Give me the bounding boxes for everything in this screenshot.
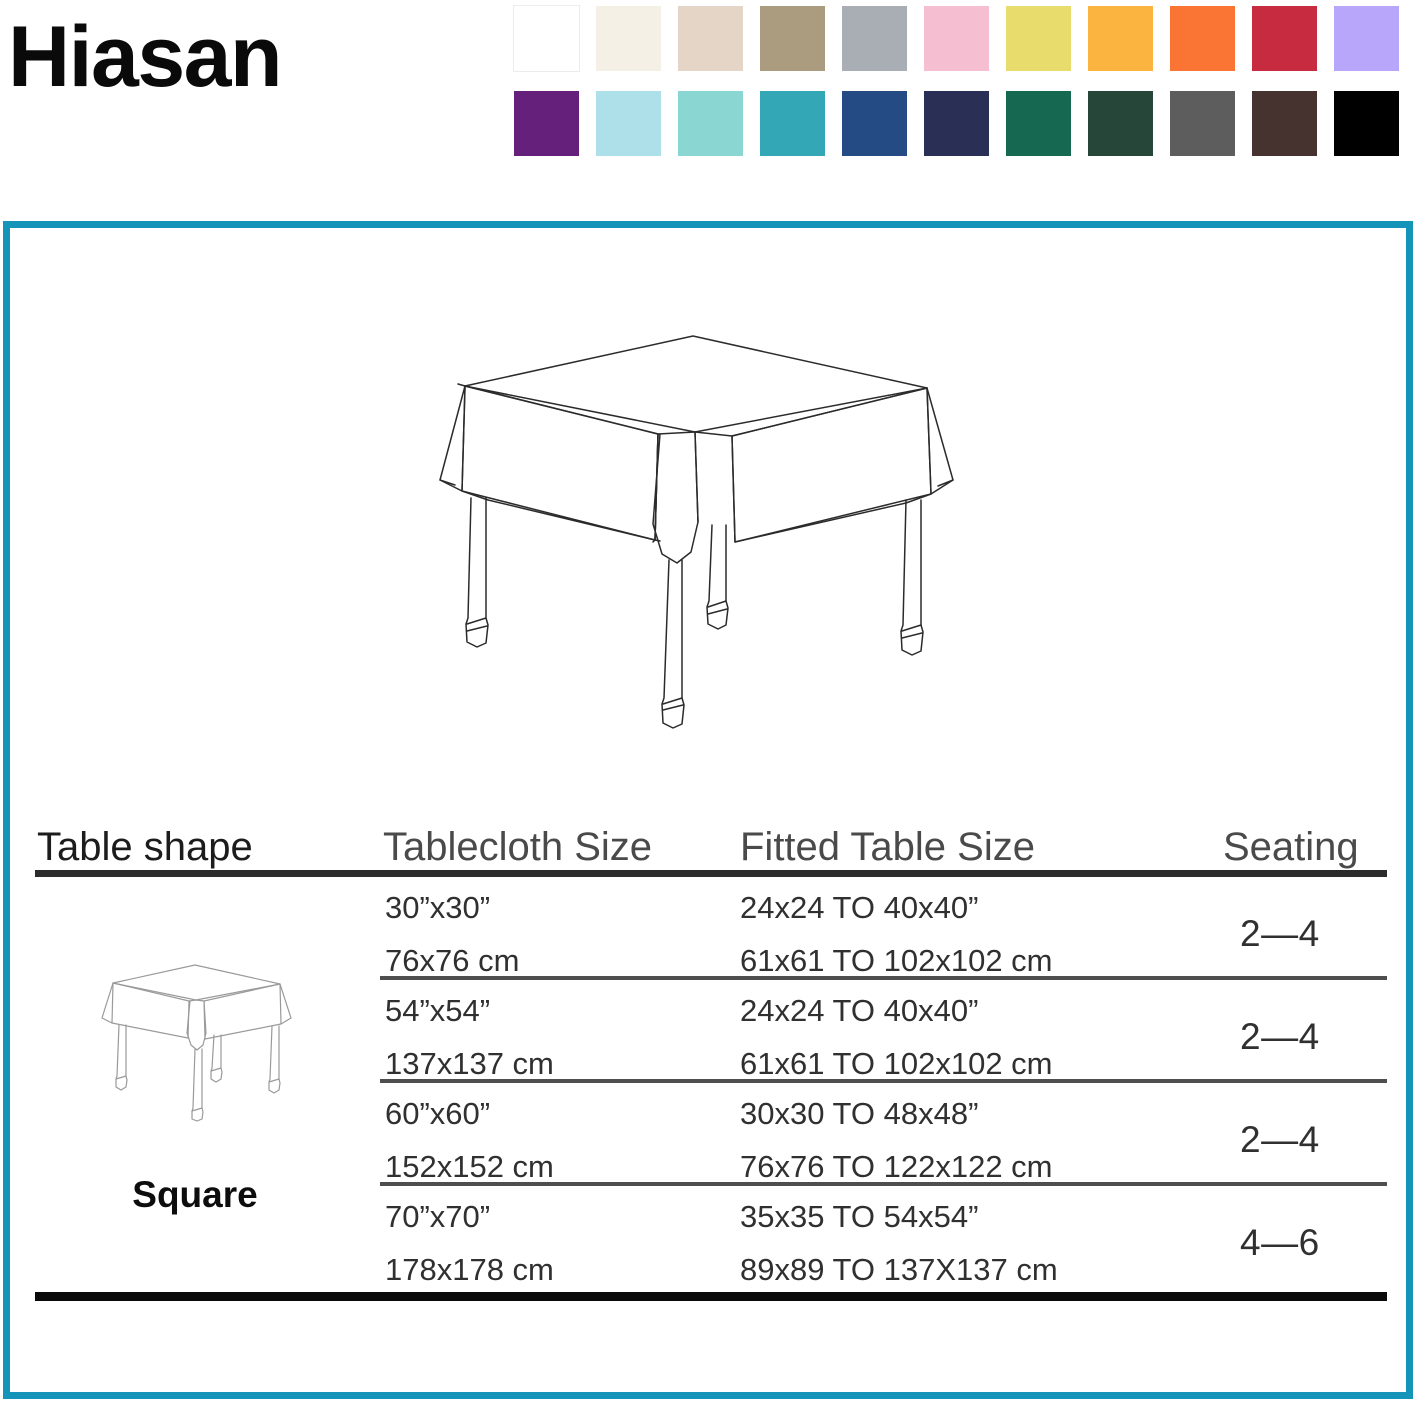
swatch-teal[interactable] (760, 91, 825, 156)
swatch-cream[interactable] (596, 6, 661, 71)
swatch-light-blue[interactable] (596, 91, 661, 156)
color-swatch-grid (514, 6, 1410, 176)
brand-swatch-bar: Hiasan (0, 0, 1416, 205)
table-row: 70”x70” 178x178 cm 35x35 TO 54x54” 89x89… (35, 1186, 1387, 1289)
table-bottom-divider (35, 1292, 1387, 1301)
swatch-row-1 (514, 6, 1410, 71)
cell-fitted-cm: 76x76 TO 122x122 cm (740, 1151, 1053, 1182)
cell-fitted-inches: 35x35 TO 54x54” (740, 1201, 978, 1232)
cell-tablecloth-inches: 60”x60” (385, 1098, 490, 1129)
cell-seating: 2—4 (1240, 1121, 1320, 1158)
swatch-charcoal-grey[interactable] (1170, 91, 1235, 156)
cell-fitted-inches: 24x24 TO 40x40” (740, 892, 978, 923)
cell-tablecloth-inches: 30”x30” (385, 892, 490, 923)
swatch-navy[interactable] (924, 91, 989, 156)
cell-tablecloth-cm: 76x76 cm (385, 945, 519, 976)
cell-fitted-cm: 89x89 TO 137X137 cm (740, 1254, 1058, 1285)
column-header-tablecloth: Tablecloth Size (383, 825, 652, 870)
size-chart-table: Table shape Tablecloth Size Fitted Table… (35, 808, 1387, 1301)
swatch-taupe[interactable] (760, 6, 825, 71)
swatch-dark-green[interactable] (1006, 91, 1071, 156)
swatch-pink[interactable] (924, 6, 989, 71)
swatch-beige[interactable] (678, 6, 743, 71)
cell-tablecloth-inches: 54”x54” (385, 995, 490, 1026)
swatch-yellow[interactable] (1006, 6, 1071, 71)
column-header-table-shape: Table shape (37, 825, 253, 870)
swatch-dark-brown[interactable] (1252, 91, 1317, 156)
swatch-red[interactable] (1252, 6, 1317, 71)
swatch-marigold[interactable] (1088, 6, 1153, 71)
cell-fitted-inches: 24x24 TO 40x40” (740, 995, 978, 1026)
swatch-denim-blue[interactable] (842, 91, 907, 156)
swatch-black[interactable] (1334, 91, 1399, 156)
swatch-purple[interactable] (514, 91, 579, 156)
swatch-orange[interactable] (1170, 6, 1235, 71)
cell-seating: 2—4 (1240, 1018, 1320, 1055)
swatch-row-2 (514, 91, 1410, 156)
brand-logo: Hiasan (8, 8, 281, 107)
cell-seating: 2—4 (1240, 915, 1320, 952)
header-divider (35, 870, 1387, 877)
swatch-grey[interactable] (842, 6, 907, 71)
cell-tablecloth-cm: 137x137 cm (385, 1048, 554, 1079)
swatch-forest-green[interactable] (1088, 91, 1153, 156)
swatch-aqua[interactable] (678, 91, 743, 156)
cell-seating: 4—6 (1240, 1224, 1320, 1261)
size-chart-panel: Square Table shape Tablecloth Size Fitte… (3, 221, 1413, 1399)
column-header-fitted-table: Fitted Table Size (740, 825, 1035, 870)
square-table-illustration (410, 328, 980, 798)
table-row: 30”x30” 76x76 cm 24x24 TO 40x40” 61x61 T… (35, 877, 1387, 980)
cell-tablecloth-inches: 70”x70” (385, 1201, 490, 1232)
table-row: 60”x60” 152x152 cm 30x30 TO 48x48” 76x76… (35, 1083, 1387, 1186)
cell-tablecloth-cm: 178x178 cm (385, 1254, 554, 1285)
swatch-white[interactable] (514, 6, 579, 71)
cell-fitted-cm: 61x61 TO 102x102 cm (740, 1048, 1053, 1079)
table-header-row: Table shape Tablecloth Size Fitted Table… (35, 808, 1387, 870)
cell-tablecloth-cm: 152x152 cm (385, 1151, 554, 1182)
column-header-seating: Seating (1223, 825, 1359, 870)
cell-fitted-inches: 30x30 TO 48x48” (740, 1098, 978, 1129)
cell-fitted-cm: 61x61 TO 102x102 cm (740, 945, 1053, 976)
table-body: 30”x30” 76x76 cm 24x24 TO 40x40” 61x61 T… (35, 877, 1387, 1289)
table-row: 54”x54” 137x137 cm 24x24 TO 40x40” 61x61… (35, 980, 1387, 1083)
swatch-lavender[interactable] (1334, 6, 1399, 71)
